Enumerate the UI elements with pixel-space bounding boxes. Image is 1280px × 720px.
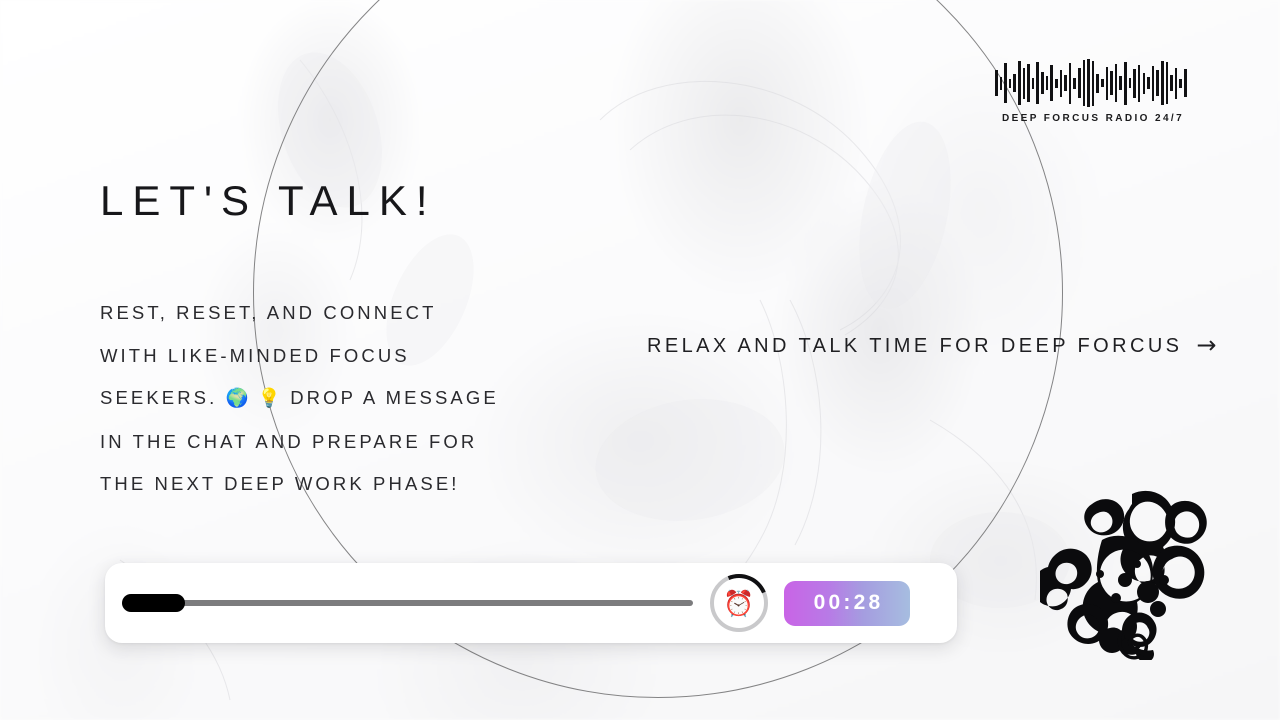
waveform-bar <box>1143 73 1146 94</box>
waveform-bar <box>1046 76 1049 90</box>
waveform-bar <box>1156 70 1159 96</box>
description-line-3: SEEKERS. 🌍 💡 DROP A MESSAGE <box>100 377 570 421</box>
waveform-bar <box>1133 69 1136 98</box>
tagline[interactable]: RELAX AND TALK TIME FOR DEEP FORCUS → <box>647 334 1217 358</box>
description-text: REST, RESET, AND CONNECT WITH LIKE-MINDE… <box>100 292 570 506</box>
waveform-bar <box>1000 77 1003 90</box>
waveform-bar <box>1115 64 1118 102</box>
globe-icon: 🌍 <box>226 388 250 409</box>
waveform-bar <box>1147 77 1150 89</box>
waveform-bar <box>1152 66 1155 101</box>
waveform-icon <box>995 58 1187 108</box>
arrow-right-icon: → <box>1196 333 1216 357</box>
description-line-3-post: DROP A MESSAGE <box>290 387 499 408</box>
waveform-bar <box>1124 62 1127 105</box>
description-line-4: IN THE CHAT AND PREPARE FOR <box>100 421 570 464</box>
waveform-bar <box>1004 63 1007 103</box>
brand-logo: DEEP FORCUS RADIO 24/7 <box>995 58 1191 124</box>
alarm-clock-icon: ⏰ <box>723 591 754 616</box>
description-line-5: THE NEXT DEEP WORK PHASE! <box>100 463 570 506</box>
lightbulb-icon: 💡 <box>258 388 282 409</box>
waveform-bar <box>995 70 998 96</box>
brand-caption: DEEP FORCUS RADIO 24/7 <box>995 113 1191 124</box>
waveform-bar <box>1175 68 1178 99</box>
progress-slider[interactable] <box>122 592 693 614</box>
slider-track <box>122 600 693 606</box>
waveform-bar <box>1110 71 1113 95</box>
waveform-bar <box>1119 76 1122 90</box>
waveform-bar <box>1092 61 1095 106</box>
waveform-bar <box>1138 65 1141 102</box>
tagline-text: RELAX AND TALK TIME FOR DEEP FORCUS <box>647 335 1182 358</box>
description-line-1: REST, RESET, AND CONNECT <box>100 292 570 335</box>
waveform-bar <box>1129 78 1132 88</box>
alarm-timer-button[interactable]: ⏰ <box>710 574 768 632</box>
waveform-bar <box>1060 70 1063 97</box>
timer-display[interactable]: 00:28 <box>784 581 910 626</box>
waveform-bar <box>1184 69 1187 97</box>
waveform-bar <box>1087 59 1090 107</box>
description-line-2: WITH LIKE-MINDED FOCUS <box>100 335 570 378</box>
waveform-bar <box>1083 60 1086 106</box>
waveform-bar <box>1050 65 1053 101</box>
waveform-bar <box>1041 72 1044 94</box>
waveform-bar <box>1009 79 1012 88</box>
description-line-3-pre: SEEKERS. <box>100 387 217 408</box>
waveform-bar <box>1032 78 1035 89</box>
waveform-bar <box>1064 75 1067 91</box>
waveform-bar <box>1069 63 1072 104</box>
waveform-bar <box>1101 79 1104 87</box>
waveform-bar <box>1179 79 1182 88</box>
slider-fill[interactable] <box>122 594 185 612</box>
page-title: LET'S TALK! <box>100 178 437 224</box>
waveform-bar <box>1023 68 1026 99</box>
waveform-bar <box>1013 74 1016 92</box>
waveform-bar <box>1036 62 1039 104</box>
waveform-bar <box>1170 75 1173 91</box>
waveform-bar <box>1106 67 1109 100</box>
waveform-bar <box>1161 61 1164 105</box>
player-bar: ⏰ 00:28 <box>105 563 957 643</box>
waveform-bar <box>1055 79 1058 88</box>
waveform-bar <box>1073 78 1076 89</box>
waveform-bar <box>1096 74 1099 93</box>
waveform-bar <box>1078 68 1081 98</box>
slide-canvas: DEEP FORCUS RADIO 24/7 LET'S TALK! REST,… <box>0 0 1280 720</box>
abstract-bubble-graphic <box>1040 478 1220 660</box>
waveform-bar <box>1018 61 1021 105</box>
waveform-bar <box>1166 62 1169 104</box>
waveform-bar <box>1027 64 1030 102</box>
